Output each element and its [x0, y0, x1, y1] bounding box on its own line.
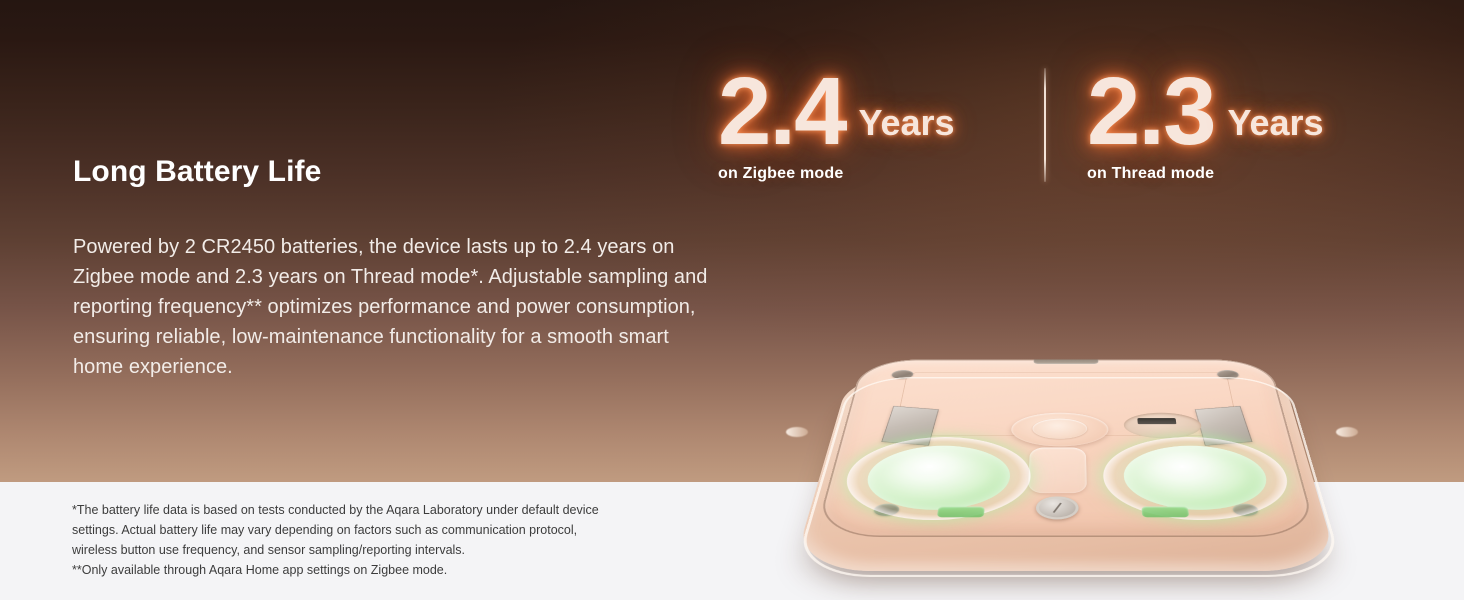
stat-thread-unit: Years — [1227, 101, 1323, 145]
footnote-line-2: settings. Actual battery life may vary d… — [72, 520, 712, 540]
battery-clip-left — [937, 506, 985, 517]
device-back-plate — [814, 360, 1318, 537]
device-side-nub-right — [1336, 427, 1358, 437]
stat-zigbee-row: 2.4 Years — [718, 62, 955, 154]
stat-zigbee-value: 2.4 — [718, 70, 845, 154]
body-description: Powered by 2 CR2450 batteries, the devic… — [73, 232, 713, 382]
battery-slot-left — [836, 437, 1032, 520]
stat-thread: 2.3 Years on Thread mode — [1087, 62, 1324, 183]
device-side-nub-left — [786, 427, 808, 437]
stat-thread-row: 2.3 Years — [1087, 62, 1324, 154]
footnote-line-4: **Only available through Aqara Home app … — [72, 560, 712, 580]
footnote-line-3: wireless button use frequency, and senso… — [72, 540, 712, 560]
device-pairing-button-inner — [1032, 419, 1087, 439]
stat-thread-caption: on Thread mode — [1087, 165, 1324, 183]
device-reset-coin — [1036, 496, 1079, 519]
page-title: Long Battery Life — [73, 154, 321, 190]
stat-thread-value: 2.3 — [1087, 70, 1214, 154]
stats-divider — [1044, 68, 1046, 182]
footnotes: *The battery life data is based on tests… — [72, 500, 712, 580]
battery-clip-right — [1141, 506, 1189, 517]
stat-zigbee: 2.4 Years on Zigbee mode — [718, 62, 955, 183]
device-plate-face — [814, 360, 1318, 537]
stat-zigbee-caption: on Zigbee mode — [718, 165, 955, 183]
footnote-line-1: *The battery life data is based on tests… — [72, 500, 712, 520]
device-reset-coin-slot — [1053, 503, 1062, 513]
stat-zigbee-unit: Years — [858, 101, 954, 145]
battery-life-stats: 2.4 Years on Zigbee mode 2.3 Years on Th… — [706, 62, 1366, 190]
long-battery-life-banner: Long Battery Life Powered by 2 CR2450 ba… — [0, 0, 1464, 600]
device-top-notch — [1034, 360, 1099, 364]
product-device-image — [770, 205, 1370, 585]
battery-slot-right — [1102, 437, 1298, 520]
